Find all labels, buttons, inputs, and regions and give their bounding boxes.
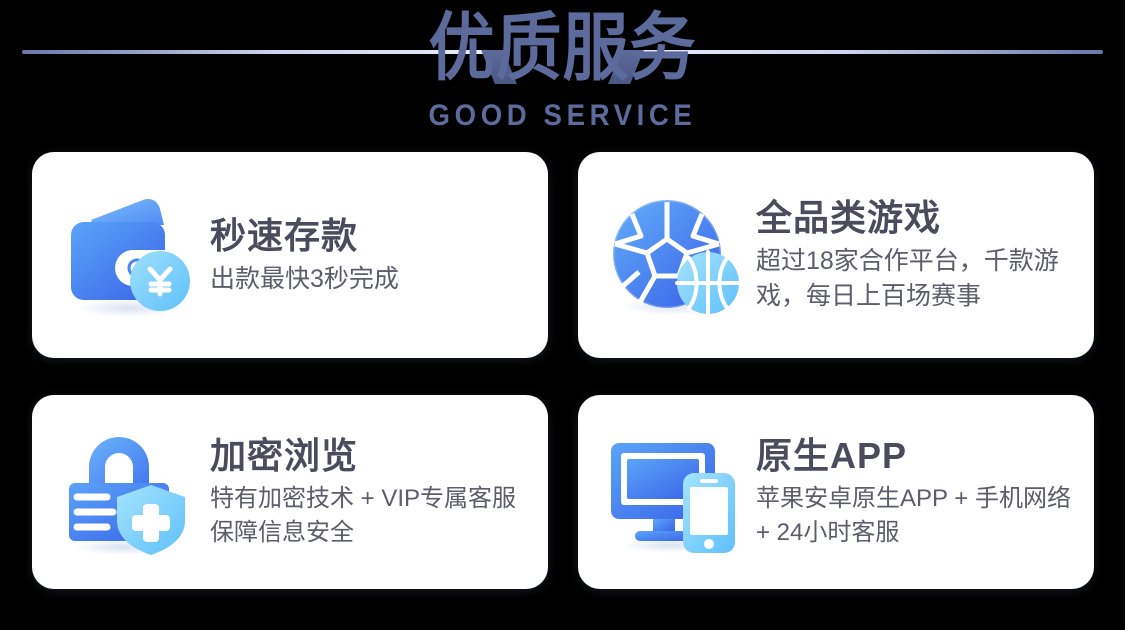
feature-card-subtitle: 超过18家合作平台，千款游戏，每日上百场赛事 [756, 244, 1078, 314]
page-subtitle: GOOD SERVICE [45, 100, 1080, 132]
feature-card-games-text: 全品类游戏 超过18家合作平台，千款游戏，每日上百场赛事 [756, 196, 1094, 314]
feature-card-deposit-text: 秒速存款 出款最快3秒完成 [210, 214, 548, 297]
promo-banner: 优质服务 GOOD SERVICE [0, 0, 1125, 630]
feature-card-title: 全品类游戏 [756, 196, 1078, 240]
feature-card-encryption-text: 加密浏览 特有加密技术 + VIP专属客服保障信息安全 [210, 434, 548, 550]
feature-card-deposit[interactable]: 秒速存款 出款最快3秒完成 [32, 152, 548, 358]
feature-card-encryption[interactable]: 加密浏览 特有加密技术 + VIP专属客服保障信息安全 [32, 395, 548, 589]
feature-card-native-app[interactable]: 原生APP 苹果安卓原生APP + 手机网络 + 24小时客服 [578, 395, 1094, 589]
feature-card-title: 加密浏览 [210, 434, 532, 478]
feature-card-title: 原生APP [756, 434, 1078, 478]
feature-card-native-app-text: 原生APP 苹果安卓原生APP + 手机网络 + 24小时客服 [756, 434, 1094, 550]
header: 优质服务 GOOD SERVICE [0, 0, 1125, 140]
feature-card-subtitle: 苹果安卓原生APP + 手机网络 + 24小时客服 [756, 482, 1078, 550]
feature-card-games[interactable]: 全品类游戏 超过18家合作平台，千款游戏，每日上百场赛事 [578, 152, 1094, 358]
soccer-basketball-icon [600, 190, 750, 320]
feature-card-grid: 秒速存款 出款最快3秒完成 [32, 152, 1094, 589]
feature-card-subtitle: 特有加密技术 + VIP专属客服保障信息安全 [210, 482, 532, 550]
wallet-yen-icon [54, 190, 204, 320]
monitor-phone-icon [600, 427, 750, 557]
feature-card-subtitle: 出款最快3秒完成 [210, 262, 532, 297]
feature-card-title: 秒速存款 [210, 214, 532, 258]
lock-shield-icon [54, 427, 204, 557]
page-title: 优质服务 [0, 6, 1125, 89]
